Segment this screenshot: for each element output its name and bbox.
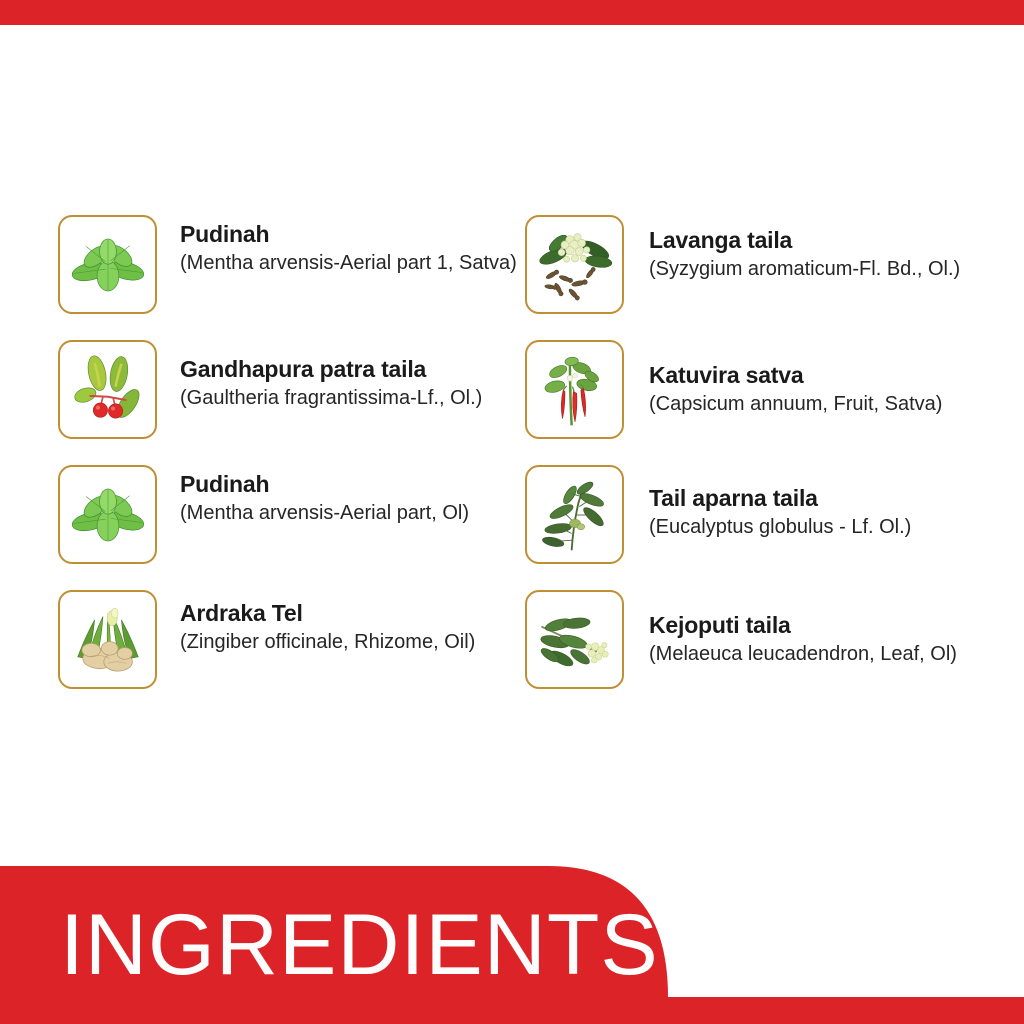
ingredient-icon-box	[58, 465, 157, 564]
ingredient-item: Katuvira satva (Capsicum annuum, Fruit, …	[525, 340, 995, 465]
ingredients-banner: INGREDIENTS	[0, 854, 1024, 1024]
clove-flower-icon	[533, 223, 617, 307]
ingredient-name: Pudinah	[180, 219, 570, 249]
ingredient-item: Pudinah (Mentha arvensis-Aerial part 1, …	[58, 215, 528, 340]
ingredients-left-column: Pudinah (Mentha arvensis-Aerial part 1, …	[58, 215, 528, 715]
ingredient-item: Ardraka Tel (Zingiber officinale, Rhizom…	[58, 590, 528, 715]
ginger-rhizome-icon	[66, 598, 150, 682]
ingredient-name: Katuvira satva	[649, 360, 1024, 390]
ingredient-botanical-name: (Zingiber officinale, Rhizome, Oil)	[180, 628, 565, 657]
top-accent-bar	[0, 0, 1024, 25]
ingredient-icon-box	[525, 215, 624, 314]
wintergreen-berries-icon	[66, 348, 150, 432]
ingredient-item: Gandhapura patra taila (Gaultheria fragr…	[58, 340, 528, 465]
cajuput-branch-icon	[533, 598, 617, 682]
ingredient-item: Kejoputi taila (Melaeuca leucadendron, L…	[525, 590, 995, 715]
ingredient-item: Lavanga taila (Syzygium aromaticum-Fl. B…	[525, 215, 995, 340]
ingredient-botanical-name: (Mentha arvensis-Aerial part 1, Satva)	[180, 249, 565, 278]
ingredient-icon-box	[58, 215, 157, 314]
ingredient-text-block: Katuvira satva (Capsicum annuum, Fruit, …	[649, 360, 1024, 419]
eucalyptus-branch-icon	[533, 473, 617, 557]
ingredients-right-column: Lavanga taila (Syzygium aromaticum-Fl. B…	[525, 215, 995, 715]
ingredient-text-block: Lavanga taila (Syzygium aromaticum-Fl. B…	[649, 225, 1024, 284]
ingredient-name: Tail aparna taila	[649, 483, 1024, 513]
ingredient-name: Pudinah	[180, 469, 570, 499]
ingredient-text-block: Ardraka Tel (Zingiber officinale, Rhizom…	[180, 598, 570, 657]
ingredient-icon-box	[525, 340, 624, 439]
ingredient-text-block: Pudinah (Mentha arvensis-Aerial part, Ol…	[180, 469, 570, 528]
ingredient-botanical-name: (Eucalyptus globulus - Lf. Ol.)	[649, 513, 1024, 542]
ingredient-item: Pudinah (Mentha arvensis-Aerial part, Ol…	[58, 465, 528, 590]
ingredient-text-block: Tail aparna taila (Eucalyptus globulus -…	[649, 483, 1024, 542]
ingredient-botanical-name: (Melaeuca leucadendron, Leaf, Ol)	[649, 640, 1024, 669]
ingredient-botanical-name: (Gaultheria fragrantissima-Lf., Ol.)	[180, 384, 565, 413]
ingredient-icon-box	[58, 340, 157, 439]
mint-leaves-icon	[66, 473, 150, 557]
banner-title: INGREDIENTS	[60, 902, 659, 988]
ingredient-icon-box	[525, 465, 624, 564]
mint-leaves-icon	[66, 223, 150, 307]
ingredient-icon-box	[58, 590, 157, 689]
ingredient-botanical-name: (Syzygium aromaticum-Fl. Bd., Ol.)	[649, 255, 1024, 284]
ingredient-name: Gandhapura patra taila	[180, 354, 570, 384]
ingredient-text-block: Pudinah (Mentha arvensis-Aerial part 1, …	[180, 219, 570, 278]
ingredient-botanical-name: (Capsicum annuum, Fruit, Satva)	[649, 390, 1024, 419]
ingredient-name: Lavanga taila	[649, 225, 1024, 255]
ingredient-botanical-name: (Mentha arvensis-Aerial part, Ol)	[180, 499, 565, 528]
ingredient-name: Kejoputi taila	[649, 610, 1024, 640]
chili-pepper-plant-icon	[533, 348, 617, 432]
ingredient-icon-box	[525, 590, 624, 689]
ingredient-text-block: Kejoputi taila (Melaeuca leucadendron, L…	[649, 610, 1024, 669]
ingredients-grid: Pudinah (Mentha arvensis-Aerial part 1, …	[0, 215, 1024, 715]
ingredient-item: Tail aparna taila (Eucalyptus globulus -…	[525, 465, 995, 590]
ingredient-name: Ardraka Tel	[180, 598, 570, 628]
ingredient-text-block: Gandhapura patra taila (Gaultheria fragr…	[180, 354, 570, 413]
